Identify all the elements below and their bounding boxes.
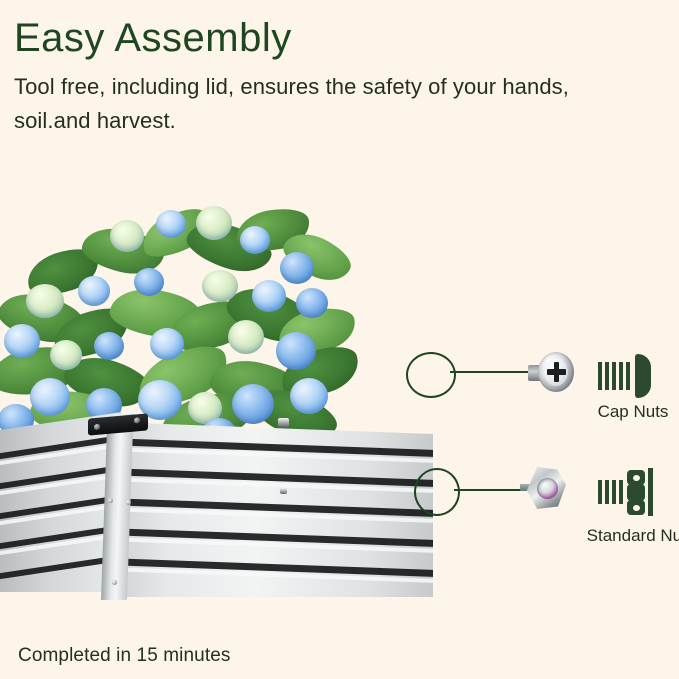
callout-leader-standard-nuts — [454, 489, 530, 491]
infographic-canvas: Easy Assembly Tool free, including lid, … — [0, 0, 679, 679]
cap-nut-on-bracket — [278, 418, 289, 427]
callout-marker-cap-nuts — [406, 352, 456, 398]
product-photo — [0, 150, 460, 610]
callout-marker-standard-nuts — [414, 468, 460, 516]
cap-nut-photo — [528, 350, 574, 394]
page-title: Easy Assembly — [14, 12, 292, 64]
post-screw-icon — [112, 580, 117, 585]
footer-caption: Completed in 15 minutes — [18, 645, 230, 667]
hydrangea-plant — [0, 192, 360, 432]
hex-nut-photo — [522, 466, 568, 510]
bracket-bolt-icon — [94, 424, 100, 431]
bracket-bolt-icon — [134, 417, 140, 424]
callout-label-standard-nuts: Standard Nuts — [556, 526, 679, 546]
callout-label-cap-nuts: Cap Nuts — [568, 402, 679, 422]
callout-leader-cap-nuts — [450, 371, 538, 373]
post-screw-icon — [108, 498, 113, 503]
post-screw-icon — [126, 500, 131, 505]
standard-nut-on-seam — [280, 488, 287, 494]
page-subtitle: Tool free, including lid, ensures the sa… — [14, 70, 634, 138]
planter-front-panel — [110, 422, 433, 597]
